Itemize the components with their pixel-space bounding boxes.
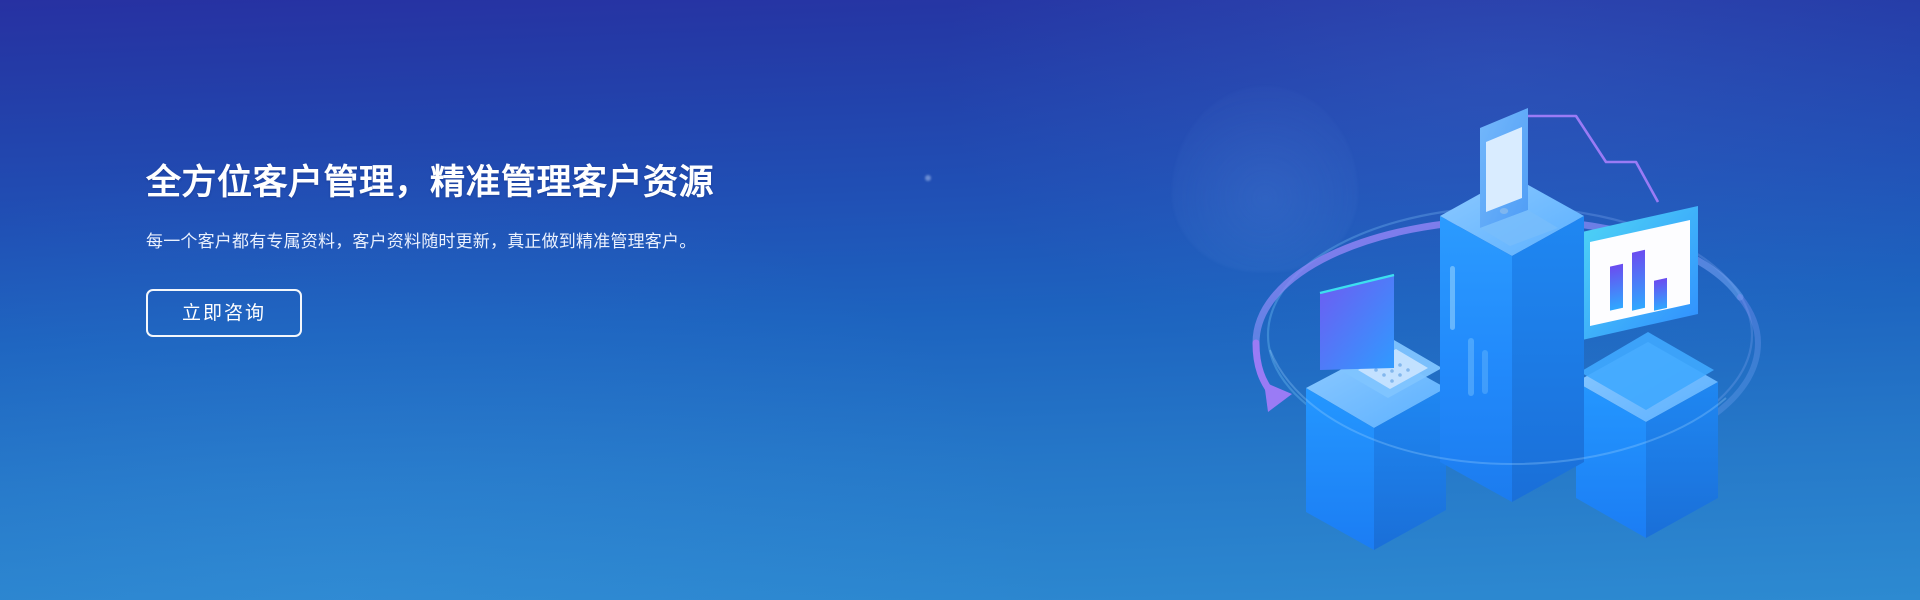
connector-line: [1516, 116, 1658, 202]
hero-illustration: [1228, 20, 1788, 580]
page-title: 全方位客户管理，精准管理客户资源: [146, 160, 786, 206]
background-sparkle-icon: [925, 175, 931, 181]
monitor-icon: [1580, 206, 1714, 410]
tablet-screen: [1486, 127, 1522, 212]
pillar-right-monitor: [1576, 206, 1718, 538]
hero-banner: 全方位客户管理，精准管理客户资源 每一个客户都有专属资料，客户资料随时更新，真正…: [0, 0, 1920, 600]
hero-subtitle: 每一个客户都有专属资料，客户资料随时更新，真正做到精准管理客户。: [146, 228, 746, 255]
pillar-center-tablet: [1440, 108, 1584, 502]
consult-now-button[interactable]: 立即咨询: [146, 289, 302, 337]
tablet-home-button-icon: [1500, 208, 1508, 214]
tablet-icon: [1480, 108, 1558, 246]
hero-copy-block: 全方位客户管理，精准管理客户资源 每一个客户都有专属资料，客户资料随时更新，真正…: [146, 160, 786, 337]
pillar-left-laptop: [1306, 275, 1446, 550]
